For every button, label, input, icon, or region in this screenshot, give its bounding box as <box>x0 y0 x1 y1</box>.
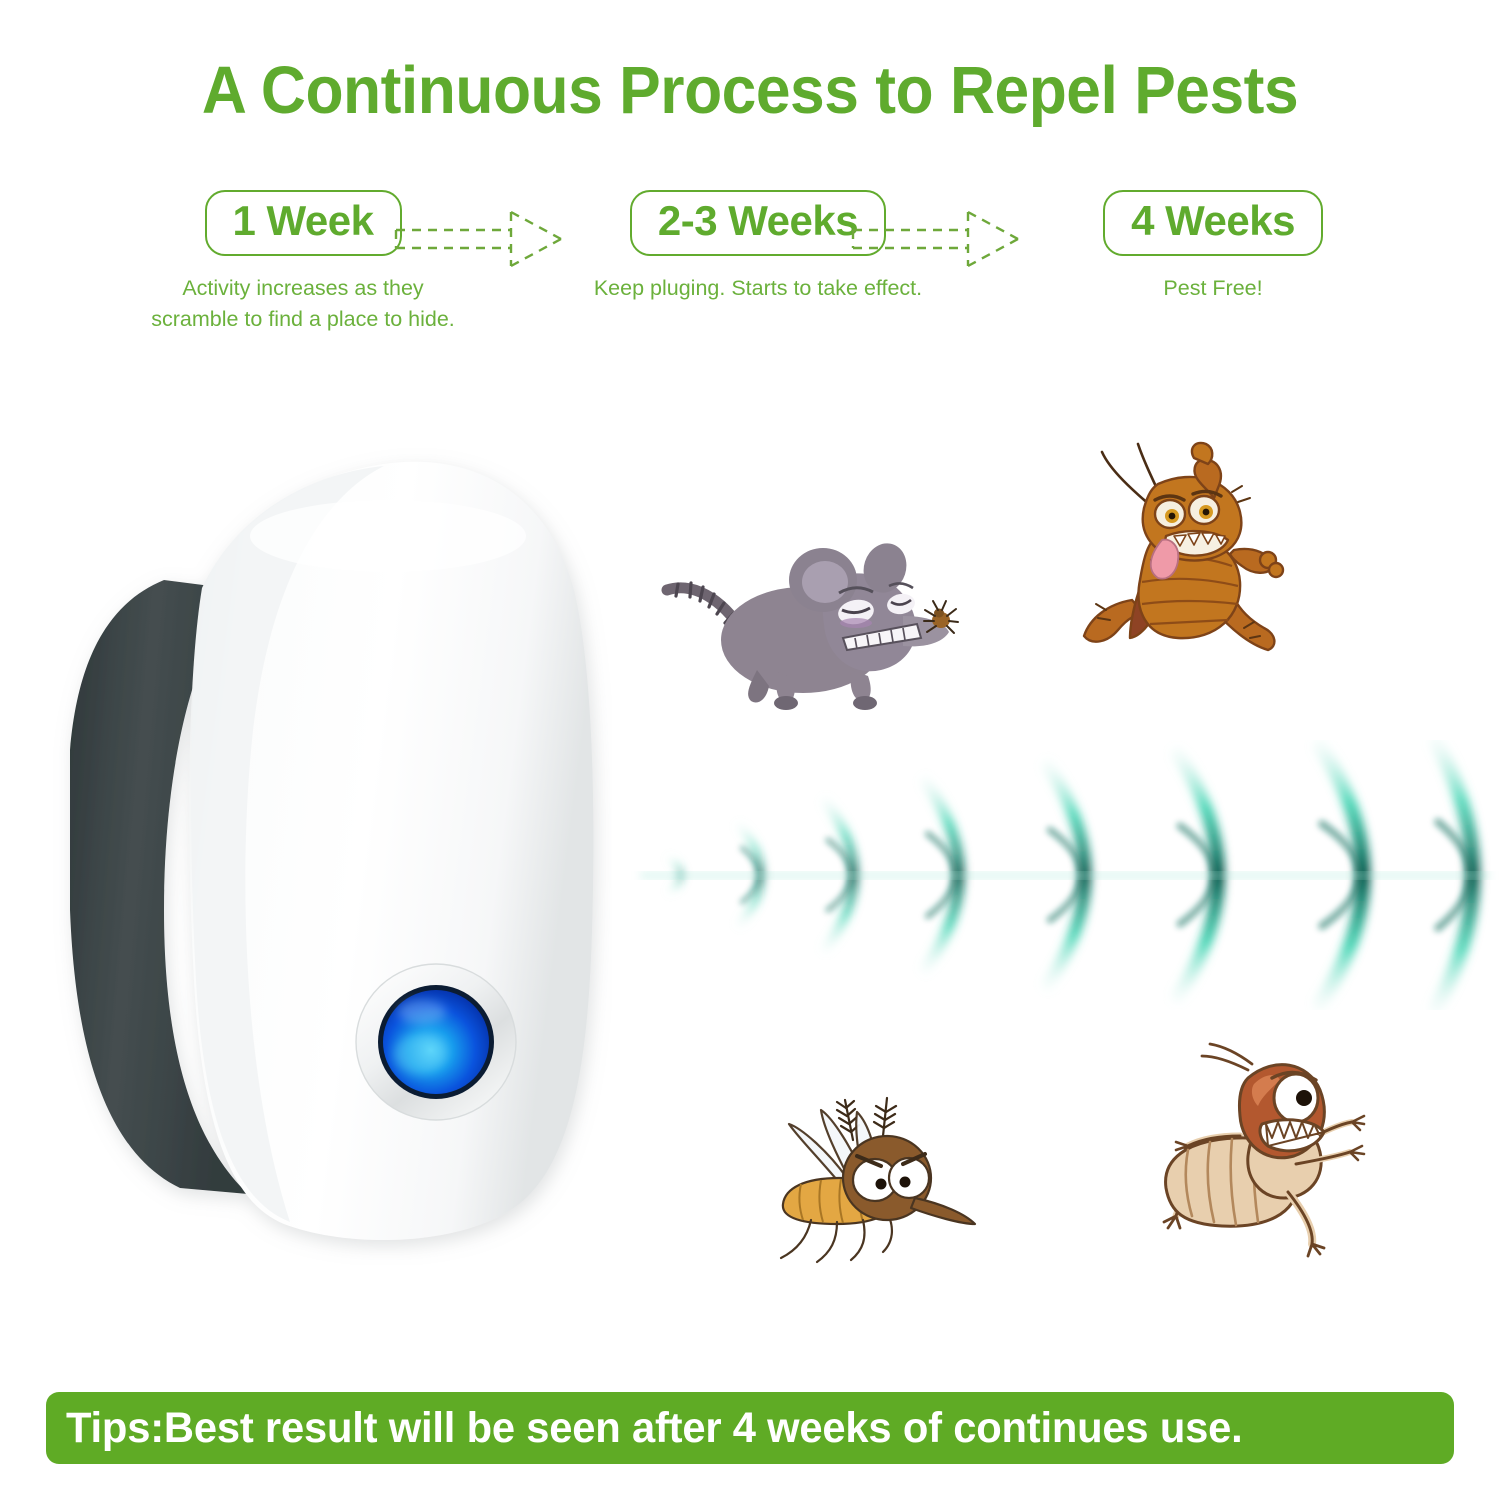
infographic-page: A Continuous Process to Repel Pests 1 We… <box>0 0 1500 1500</box>
led-indicator <box>356 964 516 1120</box>
pest-termite <box>1148 1032 1398 1272</box>
timeline-description-2: Keep pluging. Starts to take effect. <box>593 273 923 304</box>
ultrasonic-pest-repeller <box>52 440 612 1265</box>
timeline-badge-1: 1 Week <box>205 190 402 256</box>
pest-mouse <box>645 520 975 715</box>
timeline-badge-2: 2-3 Weeks <box>630 190 886 256</box>
timeline-description-1: Activity increases as they scramble to f… <box>138 273 468 334</box>
process-timeline: 1 Week Activity increases as they scramb… <box>108 190 1398 380</box>
timeline-badge-3: 4 Weeks <box>1103 190 1323 256</box>
ultrasonic-waves <box>630 740 1500 1010</box>
timeline-step-3: 4 Weeks Pest Free! <box>1048 190 1378 304</box>
tips-banner-text: Tips:Best result will be seen after 4 we… <box>66 1404 1243 1453</box>
timeline-description-3: Pest Free! <box>1048 273 1378 304</box>
tips-banner: Tips:Best result will be seen after 4 we… <box>46 1392 1454 1464</box>
pest-cockroach <box>1062 432 1312 677</box>
pest-mosquito <box>775 1092 1005 1267</box>
page-title: A Continuous Process to Repel Pests <box>53 52 1448 129</box>
dashed-arrow-right-icon <box>393 208 568 270</box>
dashed-arrow-right-icon <box>850 208 1025 270</box>
